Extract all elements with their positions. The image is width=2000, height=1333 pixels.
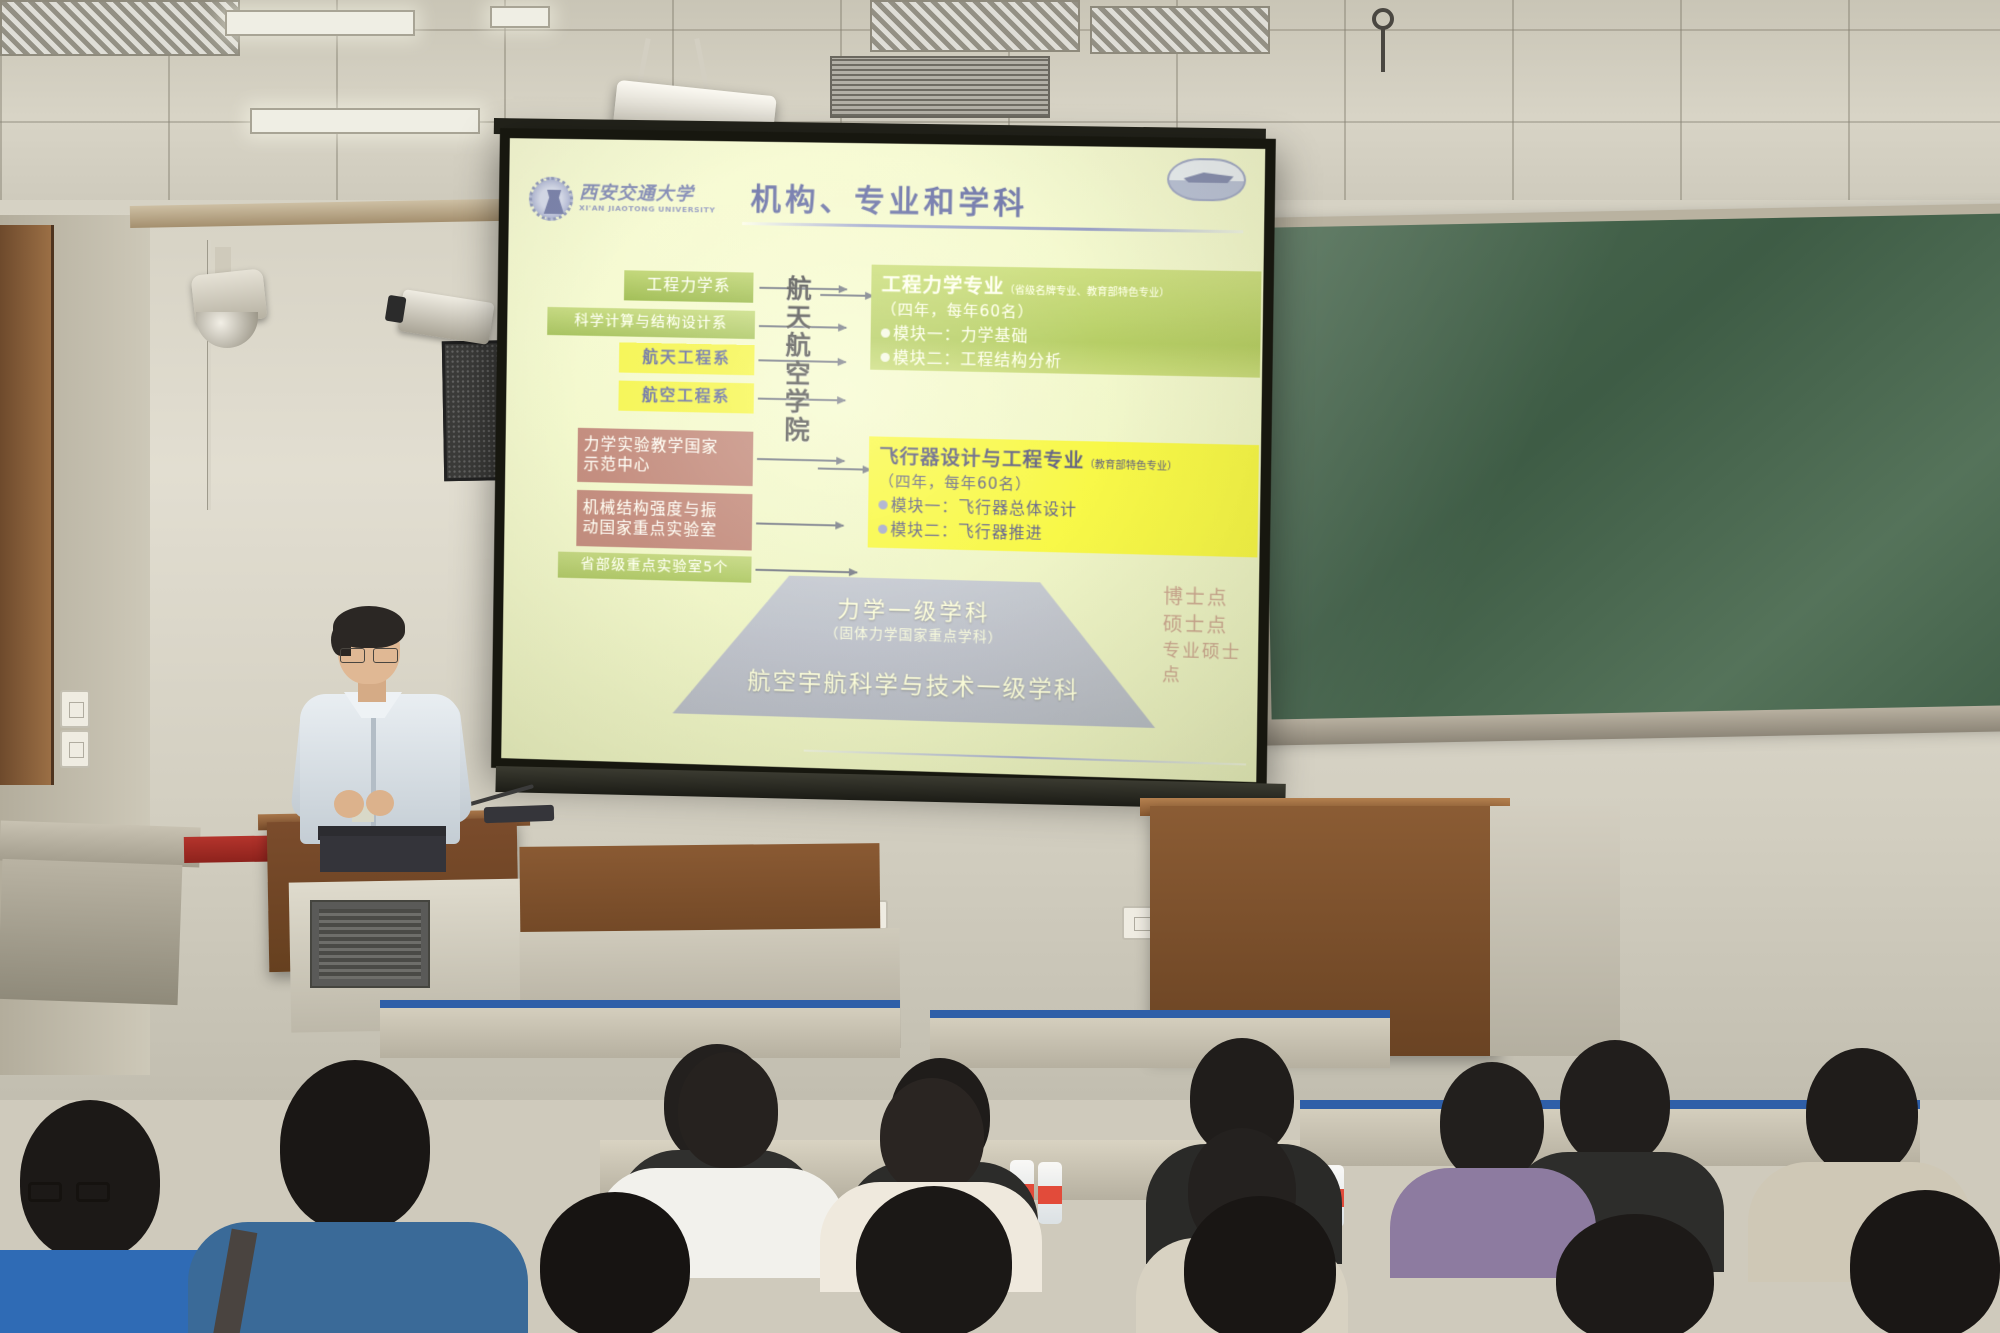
major-module-label: 模块一：力学基础 bbox=[893, 322, 1029, 347]
lectern-control-panel[interactable] bbox=[310, 900, 430, 988]
student-desk-edge bbox=[930, 1010, 1390, 1018]
college-char-0: 航 bbox=[782, 275, 817, 304]
left-side-desk-body bbox=[0, 859, 182, 1005]
bullet-icon bbox=[878, 500, 887, 509]
title-divider bbox=[742, 222, 1243, 233]
major-box-aircraft-design: 飞行器设计与工程专业（教育部特色专业） （四年，每年60名） 模块一：飞行器总体… bbox=[868, 436, 1259, 557]
major-title-note: （省级名牌专业、教育部特色专业） bbox=[1004, 285, 1169, 299]
dept-line-2: 示范中心 bbox=[583, 455, 650, 476]
degree-point-doctoral: 博士点 bbox=[1163, 584, 1259, 614]
audience-head bbox=[1806, 1048, 1918, 1176]
student-desk-edge bbox=[380, 1000, 900, 1008]
student-desk bbox=[380, 1000, 900, 1058]
wall-socket[interactable] bbox=[60, 690, 90, 728]
presenter-left-hand bbox=[334, 790, 364, 818]
audience-head bbox=[880, 1078, 984, 1194]
door bbox=[0, 225, 54, 785]
major-title-note: （教育部特色专业） bbox=[1084, 459, 1177, 472]
connector-arrow bbox=[756, 522, 843, 526]
college-char-4: 学 bbox=[780, 388, 815, 417]
laptop-on-desk bbox=[484, 805, 555, 823]
ceiling-texture-tile bbox=[870, 0, 1080, 52]
connector-arrow bbox=[820, 294, 873, 297]
bullet-icon bbox=[881, 328, 890, 337]
major-module-row: 模块二：工程结构分析 bbox=[880, 346, 1252, 376]
college-char-1: 天 bbox=[781, 303, 816, 332]
connector-arrow bbox=[755, 569, 857, 573]
dept-box-aerospace-engineering: 航天工程系 bbox=[619, 342, 755, 375]
water-bottle bbox=[1038, 1162, 1062, 1224]
connector-arrow bbox=[818, 467, 871, 470]
gear-icon bbox=[529, 176, 574, 221]
slide-bottom-rule bbox=[804, 750, 1246, 766]
audience-head-front bbox=[540, 1192, 690, 1333]
dept-box-engineering-mechanics: 工程力学系 bbox=[624, 270, 754, 303]
audience-head bbox=[1440, 1062, 1544, 1182]
audience-head-front bbox=[1184, 1196, 1336, 1333]
projection-screen: 西安交通大学 XI'AN JIAOTONG UNIVERSITY 机构、专业和学… bbox=[491, 128, 1276, 793]
college-char-2: 航 bbox=[781, 332, 816, 361]
dept-box-scientific-computing: 科学计算与结构设计系 bbox=[547, 307, 755, 339]
ceiling-air-vent bbox=[830, 56, 1050, 118]
dept-box-structural-strength-lab: 机械结构强度与振 动国家重点实验室 bbox=[576, 490, 752, 551]
dept-line-2: 动国家重点实验室 bbox=[582, 518, 717, 541]
ceiling-light bbox=[250, 108, 480, 134]
college-char-3: 空 bbox=[780, 360, 815, 389]
blackboard bbox=[1252, 203, 2000, 737]
glasses-icon bbox=[340, 648, 398, 662]
audience-head bbox=[678, 1052, 778, 1168]
presenter-right-hand bbox=[366, 790, 394, 816]
ceiling-hook-stem bbox=[1381, 26, 1385, 72]
major-module-label: 模块二：飞行器推进 bbox=[890, 518, 1043, 544]
presenter-trousers bbox=[320, 836, 446, 872]
glasses-icon bbox=[28, 1182, 110, 1204]
college-char-5: 院 bbox=[780, 416, 815, 445]
university-logo: 西安交通大学 XI'AN JIAOTONG UNIVERSITY bbox=[529, 176, 690, 223]
blackboard-surface bbox=[1262, 214, 2000, 728]
major-box-engineering-mechanics: 工程力学专业（省级名牌专业、教育部特色专业） （四年，每年60名） 模块一：力学… bbox=[870, 265, 1261, 378]
ceiling-texture-tile bbox=[1090, 6, 1270, 54]
audience-head-front bbox=[856, 1186, 1012, 1333]
dept-box-mechanics-lab-center: 力学实验教学国家 示范中心 bbox=[577, 428, 753, 486]
bullet-icon bbox=[878, 524, 887, 533]
degree-point-master: 硕士点 bbox=[1163, 611, 1259, 641]
audience-head-front bbox=[280, 1060, 430, 1232]
university-logo-en: XI'AN JIAOTONG UNIVERSITY bbox=[579, 203, 716, 214]
dept-box-provincial-labs: 省部级重点实验室5个 bbox=[558, 552, 752, 583]
degree-points-list: 博士点 硕士点 专业硕士点 bbox=[1162, 584, 1259, 691]
college-name-vertical: 航 天 航 空 学 院 bbox=[780, 275, 817, 445]
audience-head-front bbox=[20, 1100, 160, 1260]
major-module-label: 模块一：飞行器总体设计 bbox=[891, 493, 1078, 520]
right-wall-panel bbox=[1490, 806, 1620, 1056]
dept-box-aeronautics-engineering: 航空工程系 bbox=[618, 381, 754, 414]
degree-point-professional-master: 专业硕士点 bbox=[1162, 638, 1258, 690]
ceiling-light bbox=[225, 10, 415, 36]
lecture-hall-scene: 西安交通大学 XI'AN JIAOTONG UNIVERSITY 机构、专业和学… bbox=[0, 0, 2000, 1333]
audience-head bbox=[1560, 1040, 1670, 1166]
student-desk bbox=[930, 1010, 1390, 1068]
college-emblem-icon bbox=[1167, 158, 1247, 202]
presentation-slide: 西安交通大学 XI'AN JIAOTONG UNIVERSITY 机构、专业和学… bbox=[501, 138, 1265, 782]
slide-title: 机构、专业和学科 bbox=[750, 174, 1028, 223]
audience-head-front bbox=[1556, 1214, 1714, 1333]
ceiling-light bbox=[490, 6, 550, 28]
ceiling-texture-tile bbox=[0, 0, 240, 56]
audience-head-front bbox=[1850, 1190, 2000, 1333]
wall-socket[interactable] bbox=[60, 730, 90, 768]
connector-arrow bbox=[757, 458, 844, 462]
major-module-label: 模块二：工程结构分析 bbox=[893, 346, 1063, 372]
university-logo-cn: 西安交通大学 bbox=[579, 178, 694, 206]
major-title: 工程力学专业 bbox=[881, 274, 1004, 299]
bullet-icon bbox=[880, 352, 889, 361]
major-title: 飞行器设计与工程专业 bbox=[879, 446, 1085, 473]
